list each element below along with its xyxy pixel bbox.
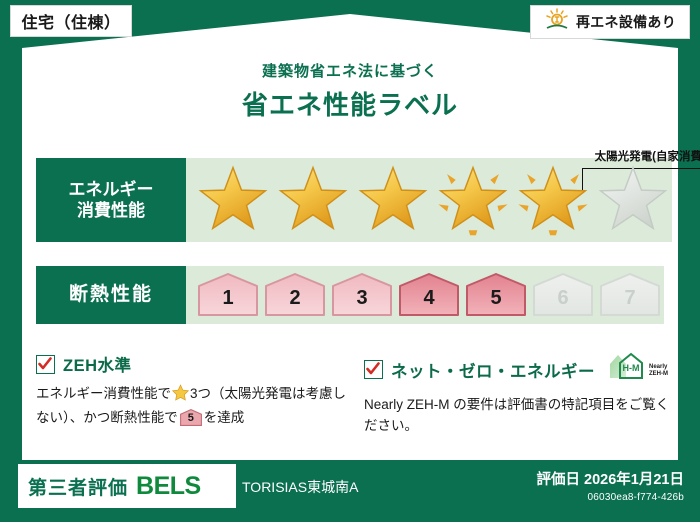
svg-text:Nearly: Nearly <box>649 364 668 370</box>
title-block: 建築物省エネ法に基づく 省エネ性能ラベル <box>0 60 700 122</box>
insulation-level-value: 1 <box>196 272 260 318</box>
criterion-zeh-header: ZEH水準 <box>36 352 346 376</box>
insulation-level-value: 3 <box>330 272 394 318</box>
insulation-level-inactive: 6 <box>531 272 595 318</box>
energy-performance-label: エネルギー 消費性能 <box>36 158 186 242</box>
star-filled <box>354 158 432 242</box>
insulation-level-active: 5 <box>464 272 528 318</box>
insulation-performance-label: 断熱性能 <box>36 266 186 324</box>
criterion-zeh-text-3: を達成 <box>204 410 245 425</box>
criterion-nze-title: ネット・ゼロ・エネルギー <box>391 358 595 382</box>
dwelling-type-label: 住宅（住棟） <box>21 9 120 33</box>
criterion-net-zero-energy: ネット・ゼロ・エネルギー H-M Nearly ZEH-M <box>364 352 676 437</box>
insulation-level-active: 3 <box>330 272 394 318</box>
insulation-badge-value: 5 <box>180 409 202 426</box>
insulation-performance-row: 断熱性能 1 2 <box>36 266 664 324</box>
criterion-nze-header: ネット・ゼロ・エネルギー H-M Nearly ZEH-M <box>364 352 676 387</box>
building-name: TORISIAS東城南A <box>242 477 358 497</box>
page-title: 省エネ性能ラベル <box>0 85 700 122</box>
zeh-m-house-icon: H-M Nearly ZEH-M <box>607 352 673 387</box>
third-party-label: 第三者評価 <box>28 473 128 500</box>
renewable-energy-label: 再エネ設備あり <box>576 12 676 32</box>
energy-stars-panel: 太陽光発電(自家消費)分 <box>186 158 672 242</box>
insulation-level-scale: 1 2 3 <box>186 272 662 318</box>
insulation-level-value: 4 <box>397 272 461 318</box>
svg-text:ZEH-M: ZEH-M <box>649 371 668 377</box>
insulation-levels-panel: 1 2 3 <box>186 266 664 324</box>
insulation-level-active: 4 <box>397 272 461 318</box>
energy-performance-row: エネルギー 消費性能 太陽光発電(自家消費)分 <box>36 158 664 242</box>
star-icon <box>172 384 189 408</box>
insulation-level-inactive: 7 <box>598 272 662 318</box>
star-filled <box>274 158 352 242</box>
check-icon <box>36 355 55 374</box>
insulation-level-value: 7 <box>598 272 662 318</box>
bels-logo-text: BELS <box>136 472 201 501</box>
insulation-level-active: 2 <box>263 272 327 318</box>
star-filled <box>194 158 272 242</box>
star-filled <box>434 158 512 242</box>
star-rating <box>186 158 672 242</box>
star-empty <box>594 158 672 242</box>
star-filled <box>514 158 592 242</box>
criterion-zeh-title: ZEH水準 <box>63 352 132 376</box>
check-icon <box>364 360 383 379</box>
criterion-nze-description: Nearly ZEH-M の要件は評価書の特記項目をご覧ください。 <box>364 395 676 437</box>
criterion-zeh-description: エネルギー消費性能で 3つ（太陽光発電は考慮しない）、かつ断熱性能で 5 を達成 <box>36 384 346 429</box>
insulation-level-value: 2 <box>263 272 327 318</box>
sun-icon <box>544 8 570 37</box>
energy-performance-label: 住宅（住棟） 再エネ設備あり 建築物省エネ法に基づく 省エネ性能ラベル <box>0 0 700 522</box>
insulation-level-value: 6 <box>531 272 595 318</box>
dwelling-type-chip: 住宅（住棟） <box>10 5 132 37</box>
insulation-level-value: 5 <box>464 272 528 318</box>
bels-badge: 第三者評価 BELS <box>18 464 236 508</box>
evaluation-date-block: 評価日 2026年1月21日 06030ea8-f774-426b <box>537 468 684 503</box>
evaluation-date: 評価日 2026年1月21日 <box>537 468 684 489</box>
renewable-energy-chip: 再エネ設備あり <box>530 5 690 39</box>
insulation-badge-icon: 5 <box>180 409 202 426</box>
criterion-zeh-text-1: エネルギー消費性能で <box>36 386 171 401</box>
svg-text:H-M: H-M <box>623 363 640 373</box>
criterion-zeh-standard: ZEH水準 エネルギー消費性能で 3つ（太陽光発電は考慮しない）、かつ断熱性能で… <box>36 352 346 429</box>
evaluation-id: 06030ea8-f774-426b <box>537 492 684 503</box>
insulation-level-active: 1 <box>196 272 260 318</box>
title-subtitle: 建築物省エネ法に基づく <box>0 60 700 81</box>
